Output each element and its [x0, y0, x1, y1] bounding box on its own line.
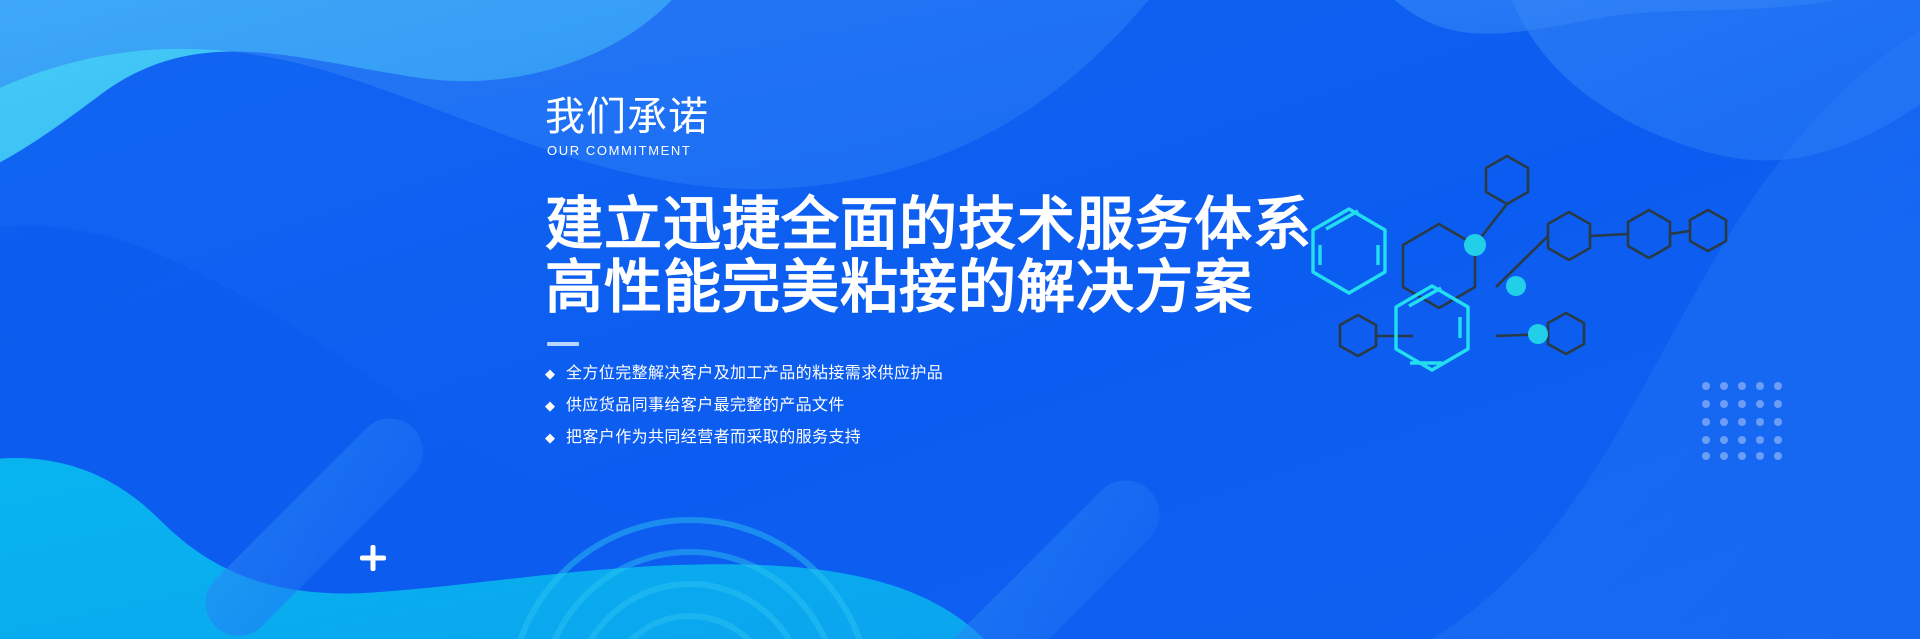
shape-concentric-rings: [510, 520, 870, 639]
shape-top-right-light: [1360, 0, 1920, 34]
headline-block: 建立迅捷全面的技术服务体系 高性能完美粘接的解决方案: [545, 194, 1345, 319]
headline-line-1: 建立迅捷全面的技术服务体系: [545, 194, 1345, 257]
headline-line-2: 高性能完美粘接的解决方案: [545, 257, 1345, 320]
list-item-label: 供应货品同事给客户最完整的产品文件: [566, 396, 845, 416]
hexagon-dark-top: [1486, 156, 1528, 204]
list-item: ◆ 供应货品同事给客户最完整的产品文件: [545, 396, 1345, 416]
hexagon-dark-chain-3: [1690, 210, 1726, 251]
diamond-icon: ◆: [545, 431, 555, 444]
shape-bottom-left-cyan: [0, 458, 1020, 639]
molecule-graphic: [1300, 125, 1860, 415]
molecule-node-1: [1464, 234, 1486, 256]
hexagon-dark-bottom-left: [1340, 315, 1376, 356]
diamond-icon: ◆: [545, 367, 555, 380]
molecule-node-3: [1528, 324, 1548, 344]
hexagon-dark-bottom-right: [1548, 313, 1584, 354]
shape-capsule-left: [192, 405, 437, 639]
eyebrow-title-en: OUR COMMITMENT: [547, 144, 1345, 158]
list-item: ◆ 全方位完整解决客户及加工产品的粘接需求供应护品: [545, 364, 1345, 384]
molecule-node-2: [1506, 276, 1526, 296]
eyebrow-title-cn: 我们承诺: [545, 96, 1345, 138]
list-item-label: 全方位完整解决客户及加工产品的粘接需求供应护品: [566, 364, 943, 384]
banner-content: 我们承诺 OUR COMMITMENT 建立迅捷全面的技术服务体系 高性能完美粘…: [545, 96, 1345, 460]
plus-icon: [360, 545, 386, 571]
diamond-icon: ◆: [545, 399, 555, 412]
hexagon-dark-chain-1: [1548, 212, 1590, 260]
list-item: ◆ 把客户作为共同经营者而采取的服务支持: [545, 428, 1345, 448]
hexagon-dark-chain-2: [1628, 210, 1670, 258]
commitment-list: ◆ 全方位完整解决客户及加工产品的粘接需求供应护品 ◆ 供应货品同事给客户最完整…: [545, 364, 1345, 448]
shape-capsule-center: [920, 466, 1173, 639]
list-item-label: 把客户作为共同经营者而采取的服务支持: [566, 428, 861, 448]
headline-divider: [547, 342, 579, 346]
promo-banner: 我们承诺 OUR COMMITMENT 建立迅捷全面的技术服务体系 高性能完美粘…: [0, 0, 1920, 639]
